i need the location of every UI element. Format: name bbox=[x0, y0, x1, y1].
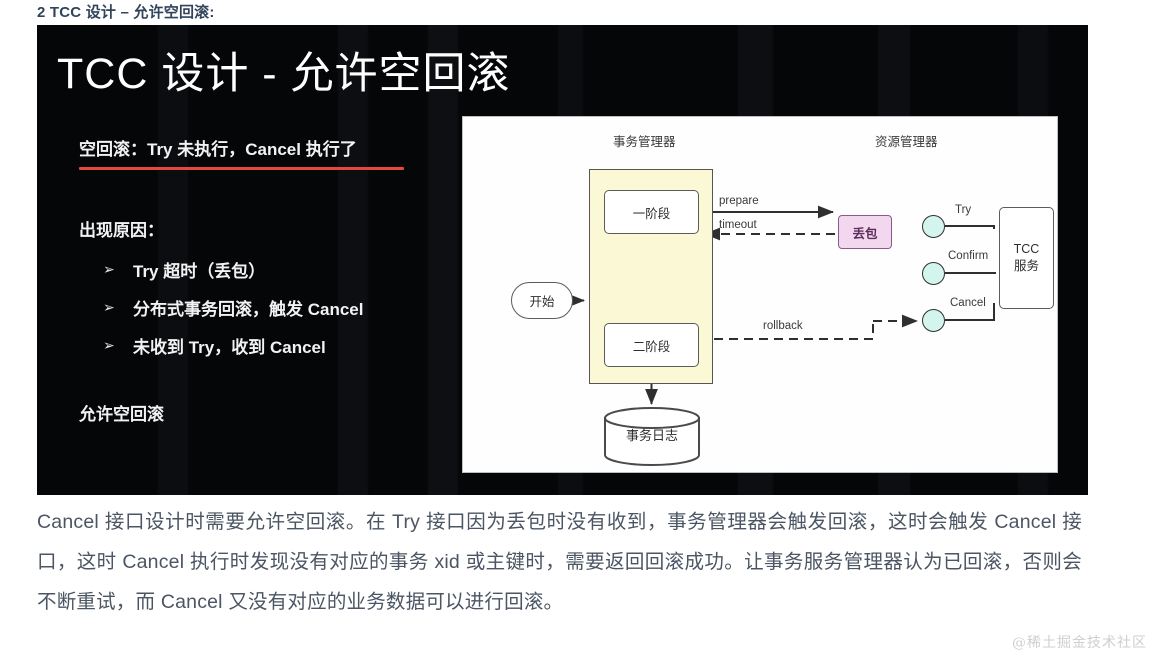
start-node: 开始 bbox=[511, 282, 573, 319]
try-edge-label: Try bbox=[955, 204, 971, 216]
article-page: 2 TCC 设计 – 允许空回滚: TCC 设计 - 允许空回滚 空回滚：Try… bbox=[0, 0, 1156, 660]
resource-manager-label: 资源管理器 bbox=[875, 131, 938, 150]
list-item-label: Try 超时（丢包） bbox=[133, 257, 265, 282]
phase-two-box: 二阶段 bbox=[604, 323, 699, 367]
definition-underline bbox=[79, 167, 404, 170]
tcc-service-line1: TCC bbox=[1014, 241, 1040, 258]
slide-image: TCC 设计 - 允许空回滚 空回滚：Try 未执行，Cancel 执行了 出现… bbox=[37, 25, 1088, 495]
page-title: 2 TCC 设计 – 允许空回滚: bbox=[37, 1, 215, 22]
drop-packet-box: 丢包 bbox=[838, 215, 892, 249]
tcc-service-line2: 服务 bbox=[1014, 258, 1039, 275]
confirm-edge-label: Confirm bbox=[948, 250, 988, 262]
watermark: @稀土掘金技术社区 bbox=[1012, 632, 1147, 652]
rollback-edge-label: rollback bbox=[763, 320, 803, 332]
article-paragraph: Cancel 接口设计时需要允许空回滚。在 Try 接口因为丢包时没有收到，事务… bbox=[37, 502, 1082, 622]
confirm-node-circle bbox=[922, 262, 945, 285]
slide-title: TCC 设计 - 允许空回滚 bbox=[57, 39, 511, 101]
list-item: ➢ 未收到 Try，收到 Cancel bbox=[103, 333, 469, 358]
arrow-bullet-icon: ➢ bbox=[103, 299, 117, 316]
list-item: ➢ Try 超时（丢包） bbox=[103, 257, 469, 282]
transaction-manager-label: 事务管理器 bbox=[613, 131, 676, 150]
arrow-bullet-icon: ➢ bbox=[103, 261, 117, 278]
list-item-label: 未收到 Try，收到 Cancel bbox=[133, 333, 326, 358]
slide-left-column: 空回滚：Try 未执行，Cancel 执行了 出现原因： ➢ Try 超时（丢包… bbox=[79, 135, 469, 425]
conclusion-text: 允许空回滚 bbox=[79, 400, 469, 425]
arrow-bullet-icon: ➢ bbox=[103, 337, 117, 354]
cancel-edge-label: Cancel bbox=[950, 297, 986, 309]
list-item: ➢ 分布式事务回滚，触发 Cancel bbox=[103, 295, 469, 320]
tcc-flow-diagram: 事务管理器 资源管理器 一阶段 二阶段 开始 事务日志 丢包 TCC 服务 pr… bbox=[462, 116, 1058, 473]
definition-block: 空回滚：Try 未执行，Cancel 执行了 bbox=[79, 135, 469, 170]
prepare-edge-label: prepare bbox=[719, 195, 759, 207]
list-item-label: 分布式事务回滚，触发 Cancel bbox=[133, 295, 363, 320]
try-node-circle bbox=[922, 215, 945, 238]
transaction-log-label: 事务日志 bbox=[603, 425, 701, 444]
cancel-node-circle bbox=[922, 309, 945, 332]
tcc-service-box: TCC 服务 bbox=[999, 207, 1054, 309]
timeout-edge-label: timeout bbox=[719, 219, 757, 231]
definition-text: 空回滚：Try 未执行，Cancel 执行了 bbox=[79, 135, 357, 165]
reason-bullet-list: ➢ Try 超时（丢包） ➢ 分布式事务回滚，触发 Cancel ➢ 未收到 T… bbox=[79, 257, 469, 358]
reason-label: 出现原因： bbox=[79, 216, 469, 241]
phase-one-box: 一阶段 bbox=[604, 190, 699, 234]
